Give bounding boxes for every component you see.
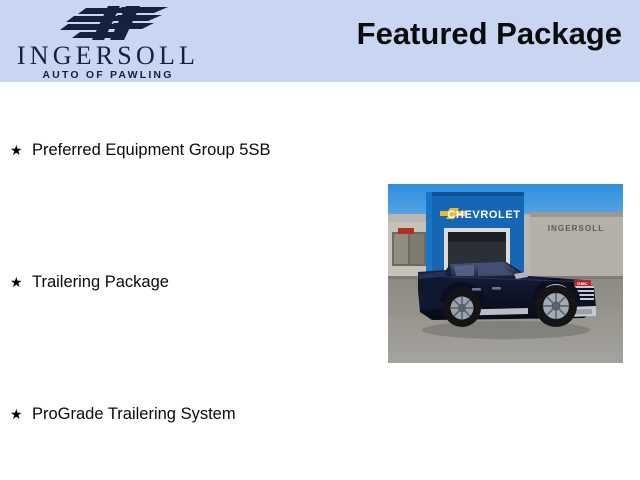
vehicle-photo: INGERSOLL CHEVROLET [388,184,623,363]
list-item: ★ ProGrade Trailering System [10,406,236,423]
list-item: ★ Preferred Equipment Group 5SB [10,142,270,159]
page-header: INGERSOLL AUTO OF PAWLING Featured Packa… [0,0,640,82]
brand-name: INGERSOLL [8,43,208,69]
feature-label: ProGrade Trailering System [32,406,236,423]
page-title: Featured Package [357,16,622,52]
dealership-sign-text: CHEVROLET [447,209,520,221]
star-bullet-icon: ★ [10,407,32,421]
building-sign-text: INGERSOLL [548,224,605,233]
feature-list: ★ Preferred Equipment Group 5SB ★ Traile… [0,82,388,480]
brand-logo: INGERSOLL AUTO OF PAWLING [8,3,208,79]
brand-tagline: AUTO OF PAWLING [8,70,208,81]
feature-label: Preferred Equipment Group 5SB [32,142,270,159]
winged-flag-emblem-icon [50,5,172,41]
star-bullet-icon: ★ [10,143,32,157]
feature-label: Trailering Package [32,274,169,291]
list-item: ★ Trailering Package [10,274,169,291]
star-bullet-icon: ★ [10,275,32,289]
